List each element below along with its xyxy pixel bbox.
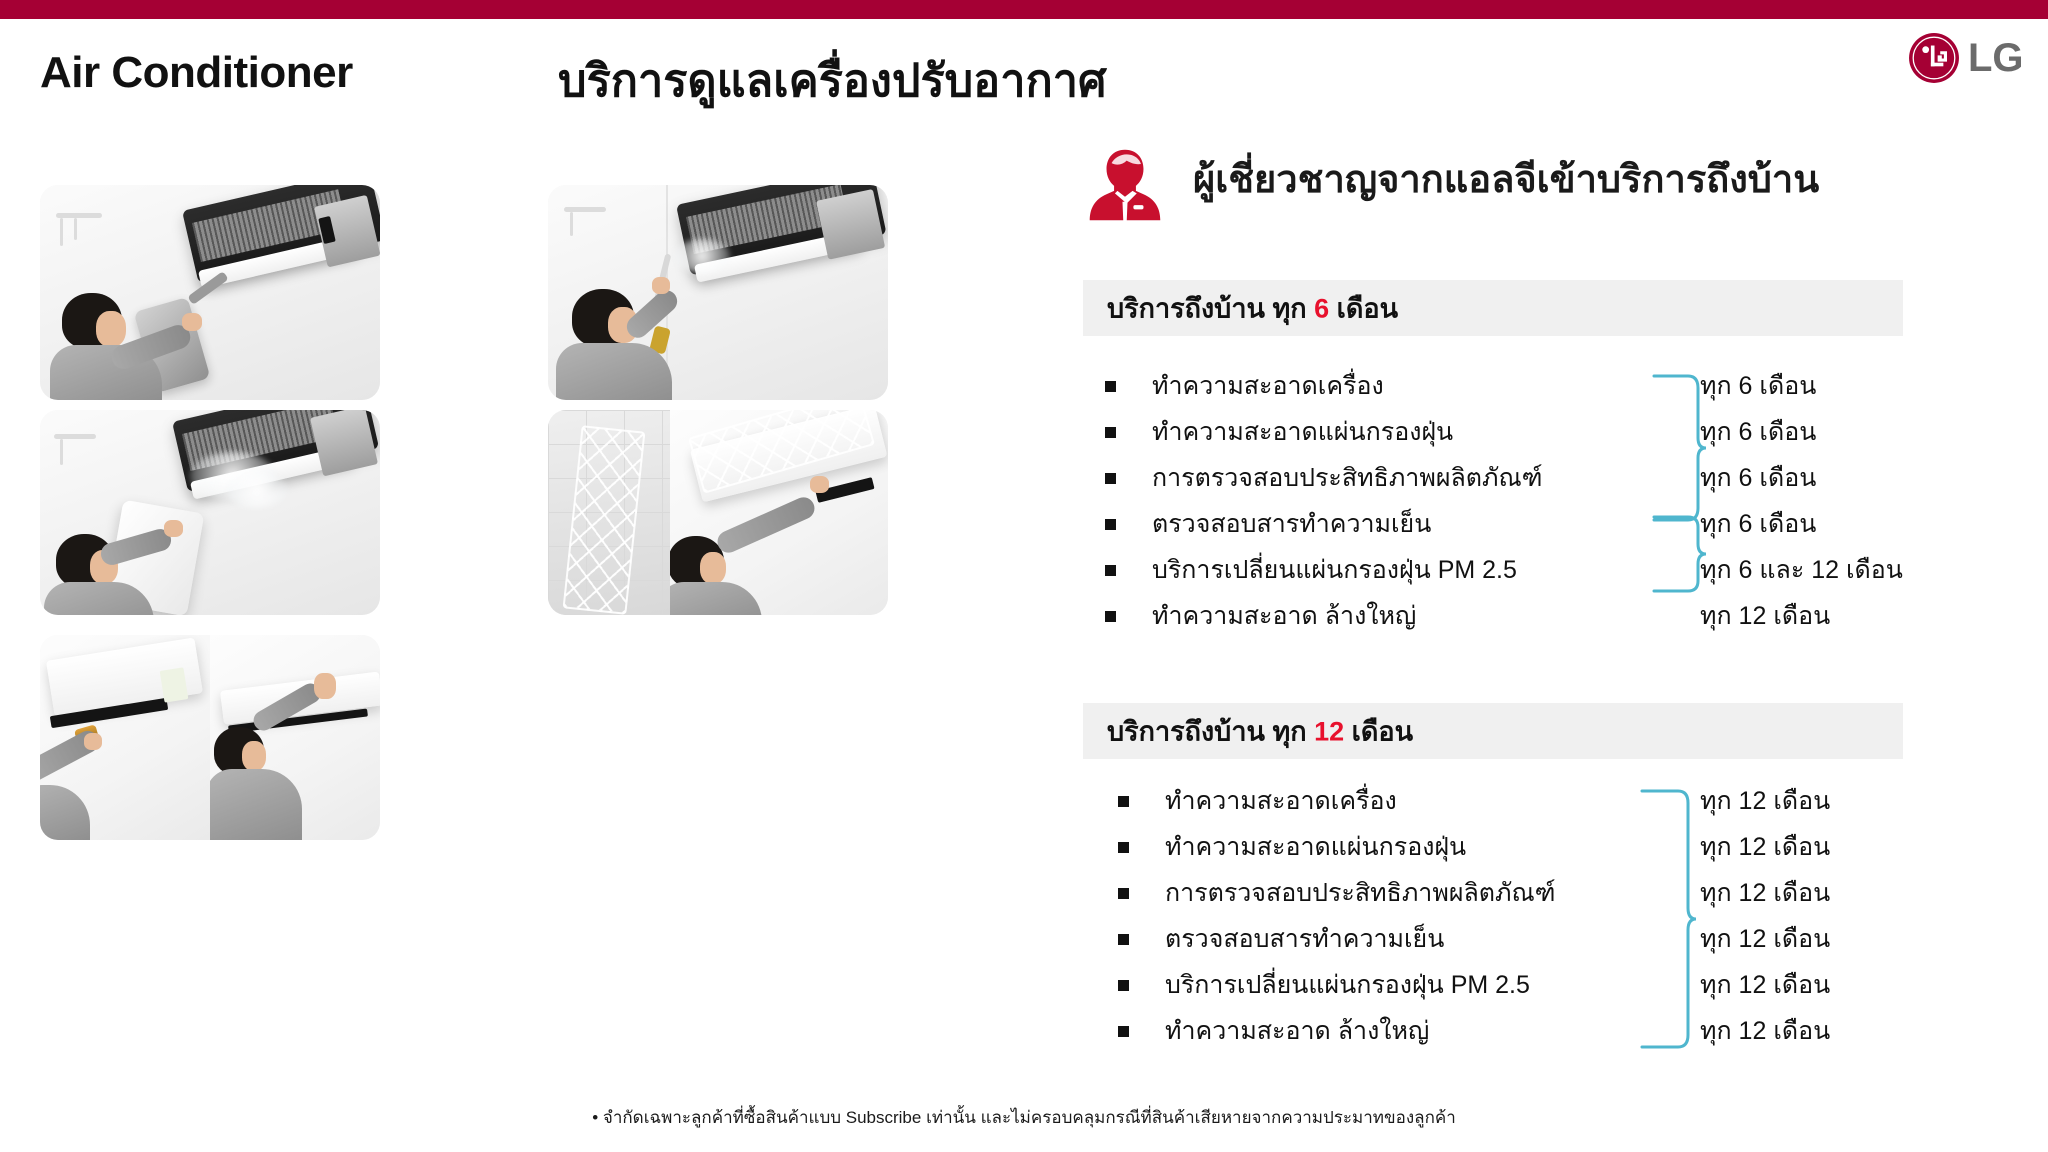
service-label: ตรวจสอบสารทำความเย็น [1165, 919, 1444, 959]
service-label: ทำความสะอาดแผ่นกรองฝุ่น [1152, 412, 1453, 452]
list-item: ทำความสะอาดแผ่นกรองฝุ่น ทุก 12 เดือน [1118, 824, 1918, 870]
bullet-icon [1118, 1026, 1129, 1037]
lg-wordmark: LG [1968, 34, 2024, 82]
service-list-6-months: ทำความสะอาดเครื่อง ทุก 6 เดือน ทำความสะอ… [1105, 363, 1905, 639]
section-header-12-months: บริการถึงบ้าน ทุก 12 เดือน [1083, 703, 1903, 759]
brace-connector-items-1-4 [1648, 372, 1708, 524]
bullet-icon [1118, 842, 1129, 853]
list-item: ตรวจสอบสารทำความเย็น ทุก 12 เดือน [1118, 916, 1918, 962]
section-title-12: บริการถึงบ้าน ทุก 12 เดือน [1107, 710, 1413, 753]
service-frequency: ทุก 12 เดือน [1700, 596, 1830, 636]
service-label: ทำความสะอาด ล้างใหญ่ [1152, 596, 1416, 636]
bullet-icon [1105, 565, 1116, 576]
list-item: ทำความสะอาด ล้างใหญ่ ทุก 12 เดือน [1118, 1008, 1918, 1054]
tagline-block: ผู้เชี่ยวชาญจากแอลจีเข้าบริการถึงบ้าน [1083, 140, 2033, 232]
section-title-suffix: เดือน [1329, 294, 1398, 324]
list-item: การตรวจสอบประสิทธิภาพผลิตภัณฑ์ ทุก 12 เด… [1118, 870, 1918, 916]
section-title-prefix: บริการถึงบ้าน ทุก [1107, 294, 1314, 324]
brand-top-bar [0, 0, 2048, 19]
page-title-thai: บริการดูแลเครื่องปรับอากาศ [558, 44, 1107, 116]
service-label: ทำความสะอาดเครื่อง [1152, 366, 1384, 406]
bullet-icon [1118, 888, 1129, 899]
bullet-icon [1105, 519, 1116, 530]
service-label: ทำความสะอาด ล้างใหญ่ [1165, 1011, 1429, 1051]
section-title-number: 6 [1314, 294, 1329, 324]
service-label: ทำความสะอาดเครื่อง [1165, 781, 1397, 821]
photo-half-close-panel [210, 635, 380, 840]
service-list-12-months: ทำความสะอาดเครื่อง ทุก 12 เดือน ทำความสะ… [1118, 778, 1918, 1054]
service-frequency: ทุก 6 เดือน [1700, 412, 1816, 452]
technician-person-icon [1083, 142, 1167, 228]
service-frequency: ทุก 6 และ 12 เดือน [1700, 550, 1903, 590]
bullet-icon [1105, 473, 1116, 484]
service-frequency: ทุก 6 เดือน [1700, 504, 1816, 544]
list-item: บริการเปลี่ยนแผ่นกรองฝุ่น PM 2.5 ทุก 12 … [1118, 962, 1918, 1008]
page-title-english: Air Conditioner [40, 48, 353, 98]
bullet-icon [1118, 934, 1129, 945]
photo-final-check [40, 635, 380, 840]
list-item: บริการเปลี่ยนแผ่นกรองฝุ่น PM 2.5 ทุก 6 แ… [1105, 547, 1905, 593]
photo-technician-vacuum [40, 185, 380, 400]
photo-filter-and-install [548, 410, 888, 615]
section-title-number: 12 [1314, 717, 1344, 747]
slide-root: Air Conditioner บริการดูแลเครื่องปรับอาก… [0, 0, 2048, 1152]
service-frequency: ทุก 12 เดือน [1700, 781, 1830, 821]
bullet-icon [1118, 980, 1129, 991]
list-item: ทำความสะอาดเครื่อง ทุก 6 เดือน [1105, 363, 1905, 409]
photo-half-install-filter [670, 410, 888, 615]
list-item: ทำความสะอาด ล้างใหญ่ ทุก 12 เดือน [1105, 593, 1905, 639]
lg-logo: LG [1908, 30, 2036, 88]
service-label: บริการเปลี่ยนแผ่นกรองฝุ่น PM 2.5 [1152, 550, 1517, 590]
service-frequency: ทุก 12 เดือน [1700, 827, 1830, 867]
service-frequency: ทุก 6 เดือน [1700, 458, 1816, 498]
service-label: ตรวจสอบสารทำความเย็น [1152, 504, 1431, 544]
service-frequency: ทุก 12 เดือน [1700, 919, 1830, 959]
tagline-text: ผู้เชี่ยวชาญจากแอลจีเข้าบริการถึงบ้าน [1193, 148, 1819, 209]
service-label: การตรวจสอบประสิทธิภาพผลิตภัณฑ์ [1152, 458, 1542, 498]
section-title-prefix: บริการถึงบ้าน ทุก [1107, 717, 1314, 747]
bullet-icon [1105, 611, 1116, 622]
photo-technician-spray [548, 185, 888, 400]
brace-connector-items-1-6 [1636, 786, 1698, 1052]
section-title-6: บริการถึงบ้าน ทุก 6 เดือน [1107, 287, 1398, 330]
list-item: การตรวจสอบประสิทธิภาพผลิตภัณฑ์ ทุก 6 เดื… [1105, 455, 1905, 501]
service-label: บริการเปลี่ยนแผ่นกรองฝุ่น PM 2.5 [1165, 965, 1530, 1005]
list-item: ตรวจสอบสารทำความเย็น ทุก 6 เดือน [1105, 501, 1905, 547]
bullet-icon [1118, 796, 1129, 807]
service-frequency: ทุก 12 เดือน [1700, 1011, 1830, 1051]
section-header-6-months: บริการถึงบ้าน ทุก 6 เดือน [1083, 280, 1903, 336]
service-label: ทำความสะอาดแผ่นกรองฝุ่น [1165, 827, 1466, 867]
photo-technician-panel-mist [40, 410, 380, 615]
footnote-text: • จำกัดเฉพาะลูกค้าที่ซื้อสินค้าแบบ Subsc… [0, 1104, 2048, 1131]
brace-connector-items-5-6 [1648, 513, 1708, 595]
service-frequency: ทุก 12 เดือน [1700, 965, 1830, 1005]
service-frequency: ทุก 6 เดือน [1700, 366, 1816, 406]
photo-half-measure [40, 635, 210, 840]
section-title-suffix: เดือน [1344, 717, 1413, 747]
service-label: การตรวจสอบประสิทธิภาพผลิตภัณฑ์ [1165, 873, 1555, 913]
bullet-icon [1105, 427, 1116, 438]
photo-half-filter-mesh [548, 410, 670, 615]
list-item: ทำความสะอาดเครื่อง ทุก 12 เดือน [1118, 778, 1918, 824]
list-item: ทำความสะอาดแผ่นกรองฝุ่น ทุก 6 เดือน [1105, 409, 1905, 455]
service-frequency: ทุก 12 เดือน [1700, 873, 1830, 913]
bullet-icon [1105, 381, 1116, 392]
lg-circle-face-icon [1908, 32, 1960, 84]
